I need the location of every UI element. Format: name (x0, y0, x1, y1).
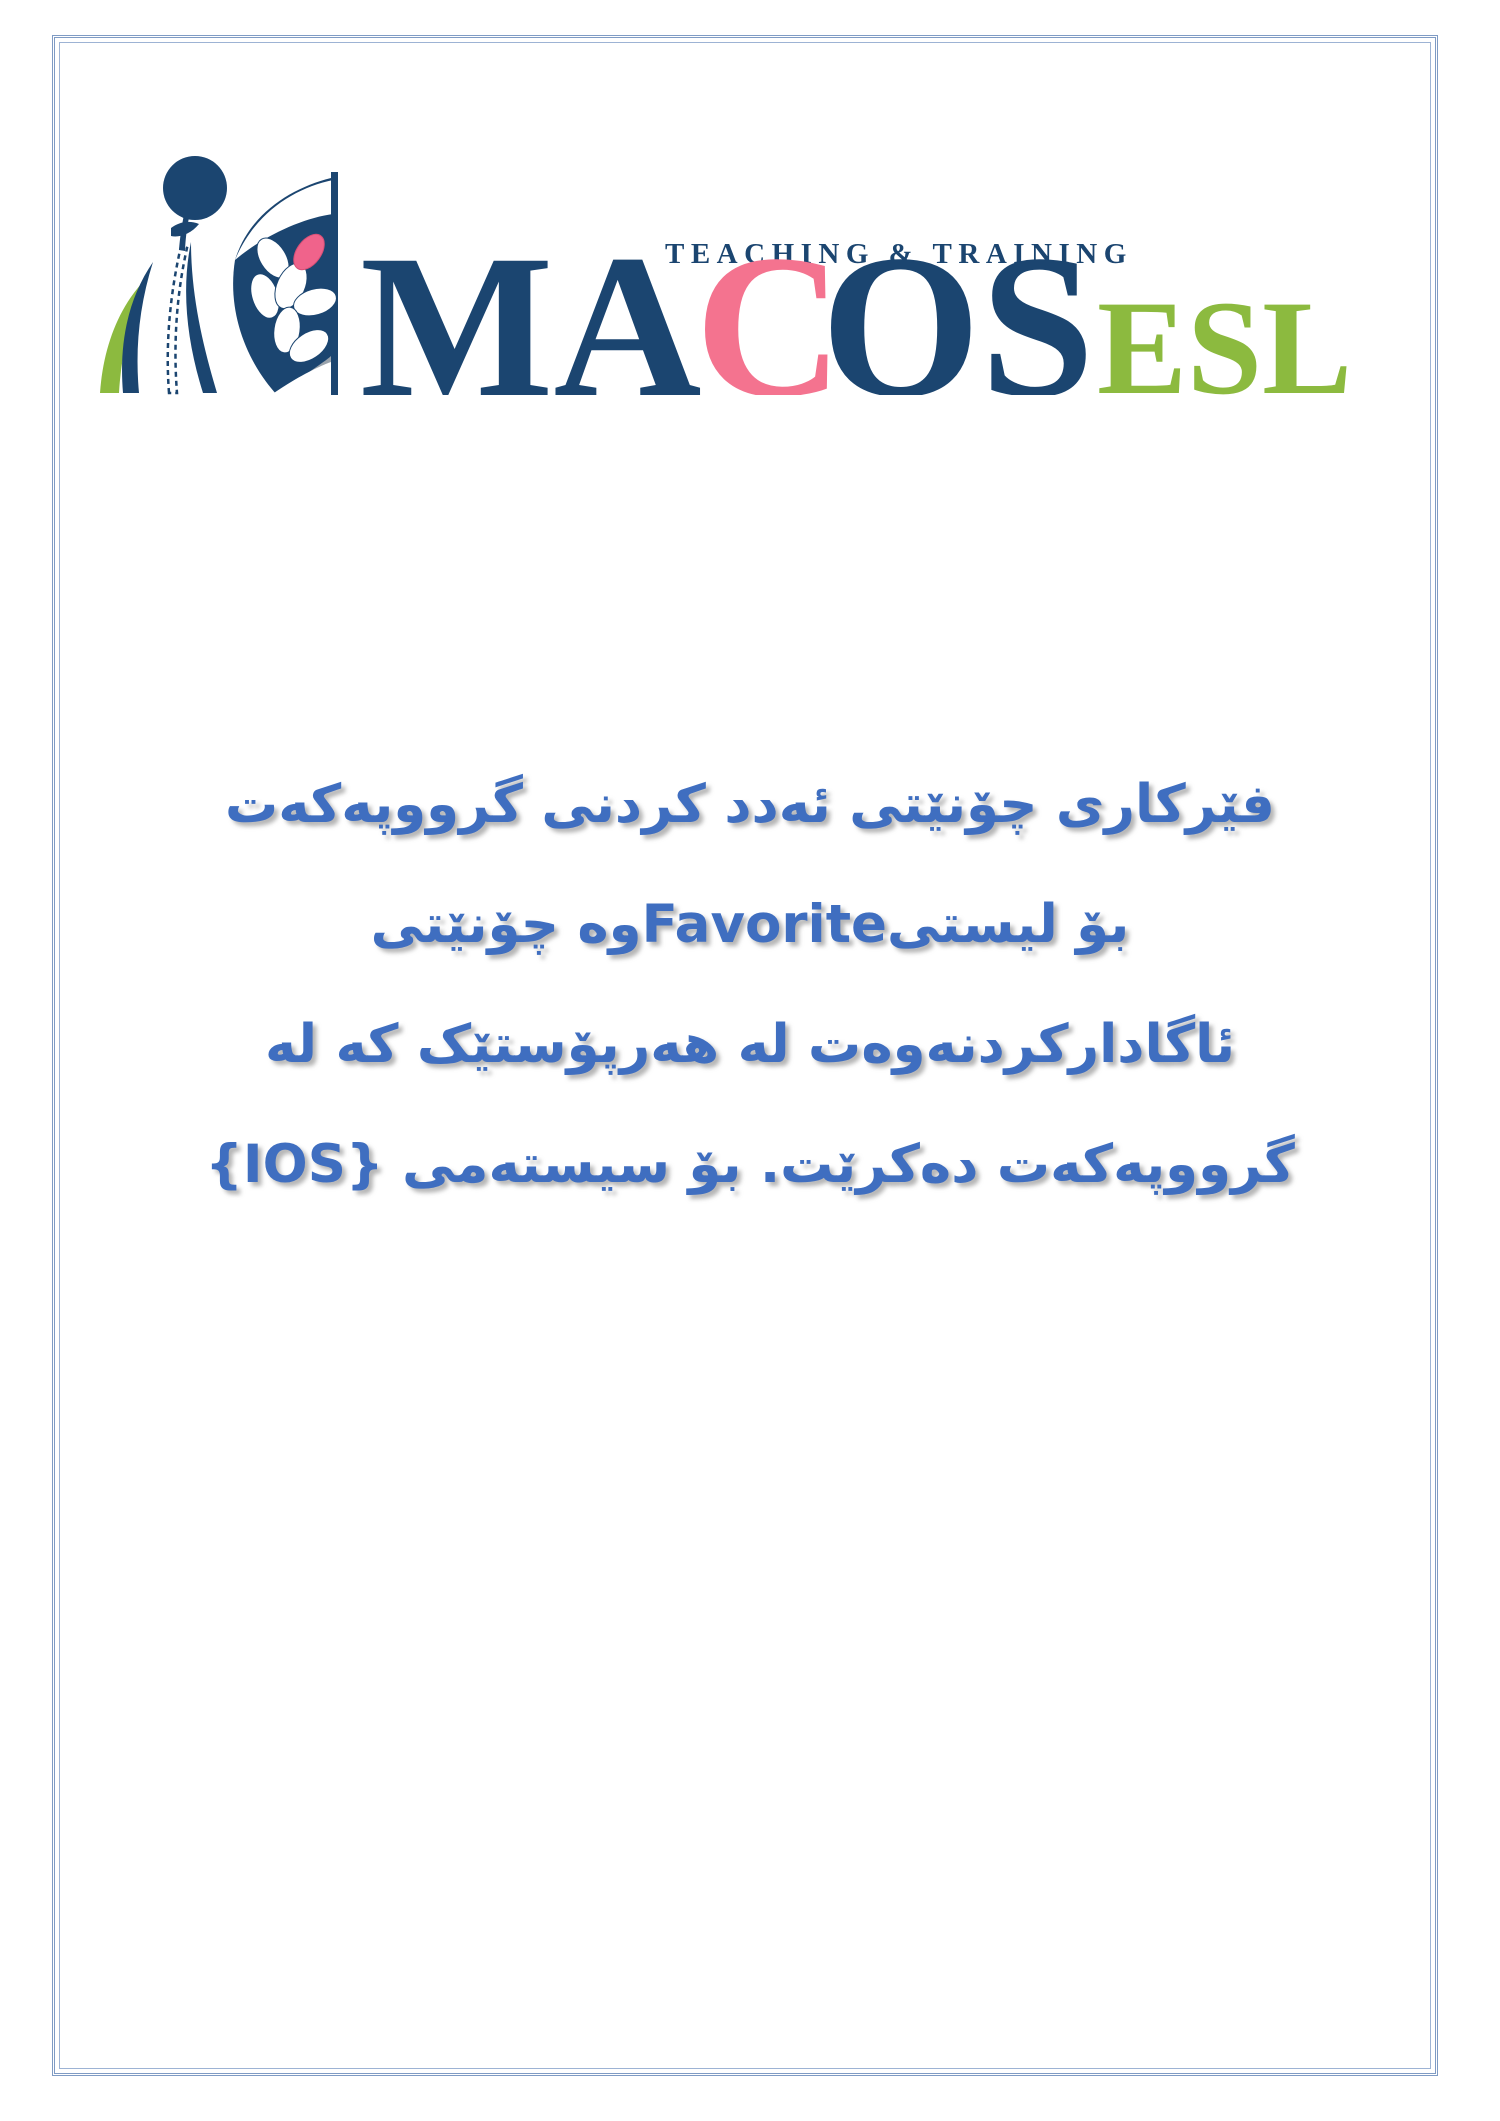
logo-wordmark-esl: ESL (1097, 274, 1352, 395)
heading-paragraph: فێرکاری چۆنێتی ئەدد کردنی گرووپەکەت بۆ ل… (80, 745, 1420, 1225)
logo-wordmark-os: OS (821, 213, 1094, 395)
heading-line-4-latin: {IOS} (205, 1134, 383, 1195)
heading-line-1: فێرکاری چۆنێتی ئەدد کردنی گرووپەکەت (80, 745, 1420, 865)
heading-line-2: بۆ لیستیFavoriteوە چۆنێتی (80, 865, 1420, 985)
heading-line-3: ئاگادارکردنەوەت لە هەرپۆستێک کە لە (80, 985, 1420, 1105)
heading-line-4-prefix: گرووپەکەت دەکرێت. بۆ سیستەمی (402, 1134, 1295, 1195)
heading-line-2-latin: Favorite (642, 894, 887, 955)
logo-wordmark-ma: MA (360, 213, 702, 395)
heading-line-2-prefix: بۆ لیستی (887, 894, 1129, 955)
macos-esl-logo: TEACHING & TRAINING MA C OS ESL (95, 150, 1355, 395)
heading-line-4: گرووپەکەت دەکرێت. بۆ سیستەمی {IOS} (80, 1105, 1420, 1225)
document-page: TEACHING & TRAINING MA C OS ESL فێرکاری … (0, 0, 1500, 2121)
heading-line-2-suffix: وە چۆنێتی (371, 894, 642, 955)
